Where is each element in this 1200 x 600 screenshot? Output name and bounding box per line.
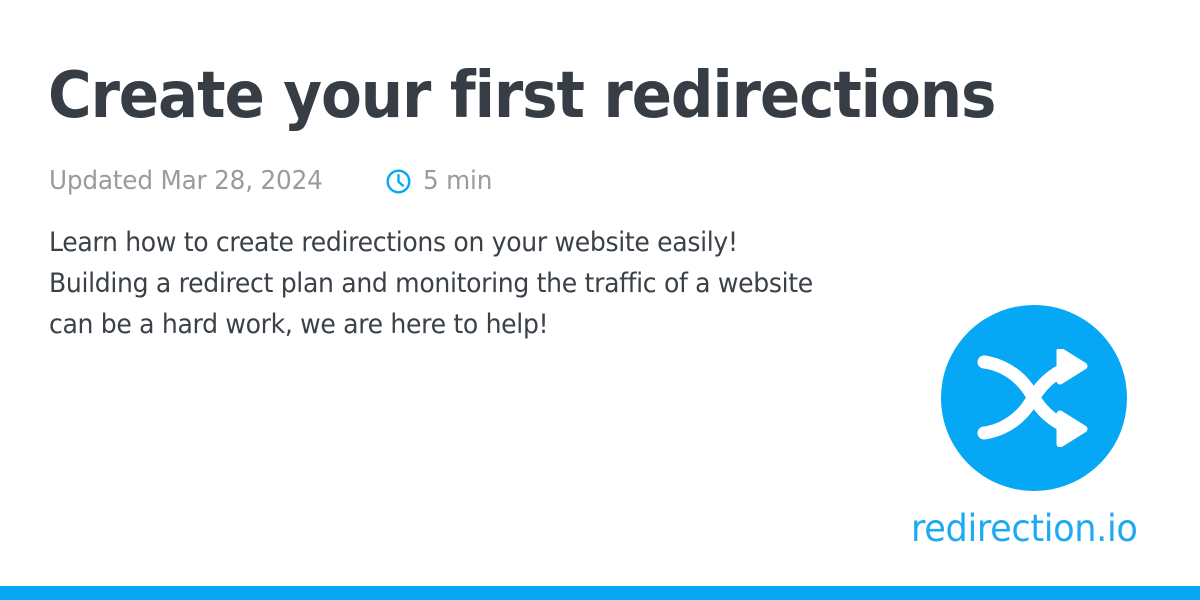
description-line: can be a hard work, we are here to help! <box>49 304 886 345</box>
brand-block: redirection.io <box>900 300 1160 560</box>
page-title: Create your first redirections <box>48 58 995 134</box>
clock-icon <box>385 168 412 195</box>
reading-time-label: 5 min <box>423 165 492 197</box>
shuffle-arrows-icon <box>974 349 1094 447</box>
brand-name: redirection.io <box>911 506 1137 552</box>
social-card: Create your first redirections Updated M… <box>0 0 1200 600</box>
accent-bar <box>0 586 1200 600</box>
reading-time-group: 5 min <box>385 165 496 197</box>
updated-date: Updated Mar 28, 2024 <box>49 165 323 197</box>
article-description: Learn how to create redirections on your… <box>49 222 949 345</box>
description-line: Building a redirect plan and monitoring … <box>49 263 886 304</box>
brand-logo <box>941 305 1127 491</box>
description-line: Learn how to create redirections on your… <box>49 222 886 263</box>
article-meta: Updated Mar 28, 2024 5 min <box>49 163 496 199</box>
